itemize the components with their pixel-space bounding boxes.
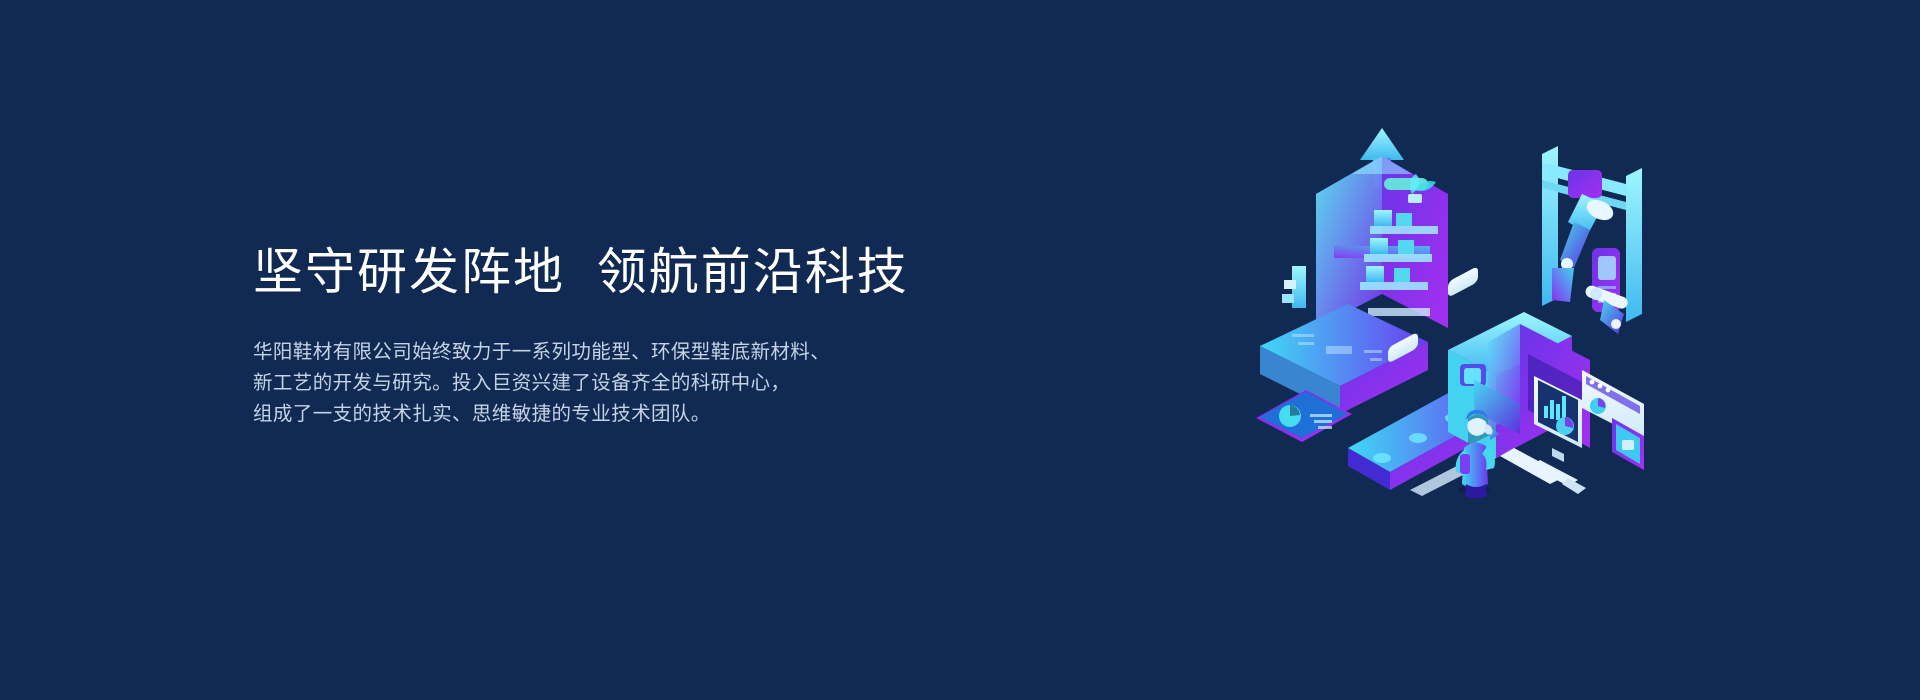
hero-description: 华阳鞋材有限公司始终致力于一系列功能型、环保型鞋底新材料、 新工艺的开发与研究。…: [253, 337, 1013, 430]
description-line-2: 新工艺的开发与研究。投入巨资兴建了设备齐全的科研中心，: [253, 368, 1013, 399]
description-line-1: 华阳鞋材有限公司始终致力于一系列功能型、环保型鞋底新材料、: [253, 337, 1013, 368]
server-block: [1260, 304, 1428, 414]
hero-copy: 坚守研发阵地 领航前沿科技 华阳鞋材有限公司始终致力于一系列功能型、环保型鞋底新…: [253, 243, 1013, 430]
pie-chart-icon: [1556, 417, 1574, 435]
a-frame-rack: [1282, 156, 1448, 328]
robot-arm: [1542, 146, 1642, 334]
isometric-factory-illustration: [1252, 118, 1652, 498]
gripper-icon: [1584, 284, 1629, 334]
hero-banner: 坚守研发阵地 领航前沿科技 华阳鞋材有限公司始终致力于一系列功能型、环保型鞋底新…: [0, 0, 1920, 700]
page-title: 坚守研发阵地 领航前沿科技: [253, 243, 1013, 301]
description-line-3: 组成了一支的技术扎实、思维敏捷的专业技术团队。: [253, 399, 1013, 430]
rack-side-post: [1282, 266, 1306, 308]
